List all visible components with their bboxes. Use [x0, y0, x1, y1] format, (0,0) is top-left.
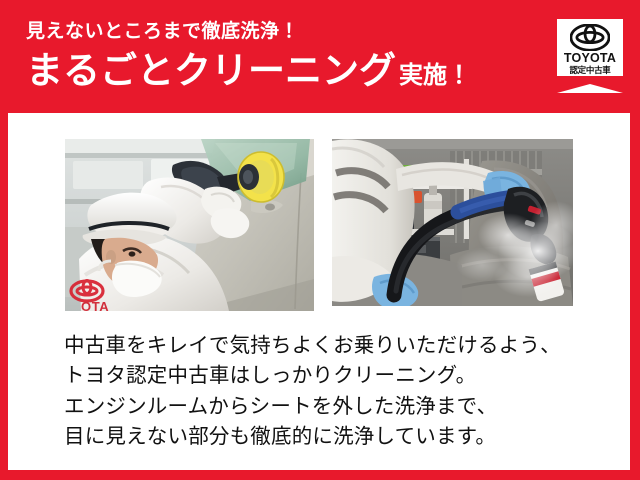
headline-block: 見えないところまで徹底洗浄！ まるごとクリーニング 実施！: [26, 22, 526, 91]
photo-exterior-polishing: OTA: [65, 139, 314, 311]
photo-row: OTA: [8, 113, 630, 318]
promo-banner: 見えないところまで徹底洗浄！ まるごとクリーニング 実施！ TOYOTA 認定中…: [0, 0, 640, 480]
toyota-emblem-icon: [570, 24, 610, 51]
body-line-3: エンジンルームからシートを外した洗浄まで、: [64, 392, 604, 422]
photo-seat-steam-cleaning: [332, 139, 573, 306]
headline-row: まるごとクリーニング 実施！: [26, 50, 526, 91]
banner-header: 見えないところまで徹底洗浄！ まるごとクリーニング 実施！ TOYOTA 認定中…: [0, 0, 640, 113]
kicker-text: 見えないところまで徹底洗浄！: [26, 22, 526, 43]
certification-label: 認定中古車: [557, 66, 623, 75]
headline-sub-text: 実施！: [399, 63, 471, 90]
photo-seat-steam-cleaning-image: [332, 139, 573, 306]
photo-exterior-polishing-image: OTA: [65, 139, 314, 311]
headline-main-text: まるごとクリーニング: [26, 50, 396, 91]
toyota-certified-used-car-logo: TOYOTA 認定中古車: [557, 19, 623, 93]
logo-chevron-shape: [557, 76, 623, 93]
body-line-2: トヨタ認定中古車はしっかりクリーニング。: [64, 361, 604, 391]
content-panel: OTA: [8, 113, 630, 470]
toyota-wordmark: TOYOTA: [557, 52, 623, 65]
body-copy: 中古車をキレイで気持ちよくお乗りいただけるよう、 トヨタ認定中古車はしっかりクリ…: [64, 331, 604, 452]
body-line-1: 中古車をキレイで気持ちよくお乗りいただけるよう、: [64, 331, 604, 361]
body-line-4: 目に見えない部分も徹底的に洗浄しています。: [64, 422, 604, 452]
svg-text:OTA: OTA: [81, 299, 109, 311]
